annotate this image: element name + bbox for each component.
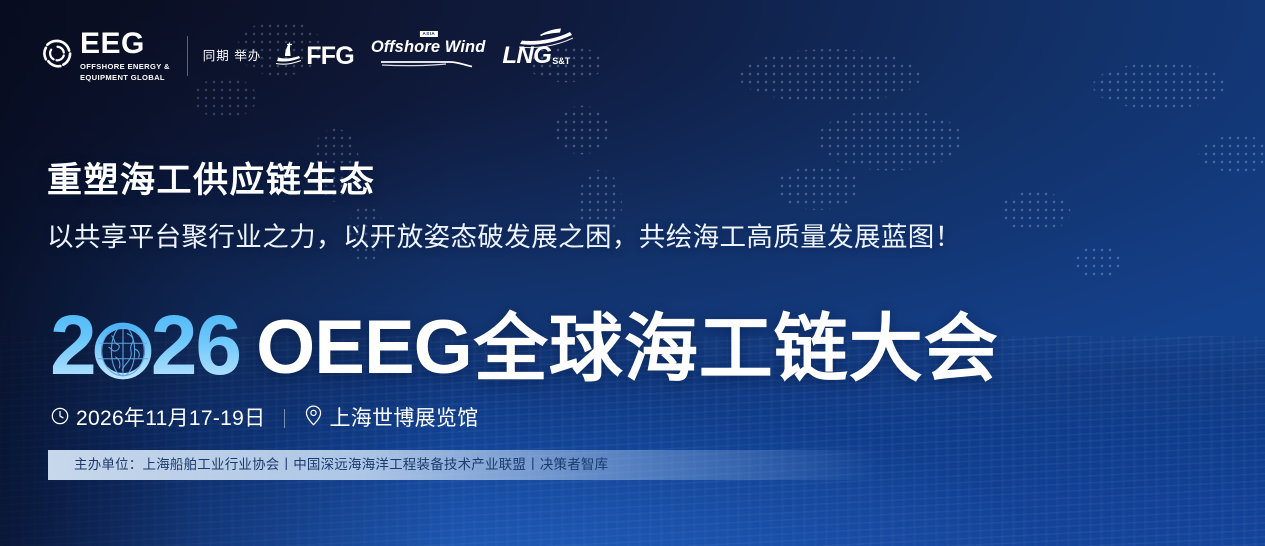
event-name-cn: 全球海工链大会 [474,312,999,386]
hero-subheadline: 以共享平台聚行业之力，以开放姿态破发展之困，共绘海工高质量发展蓝图！ [47,224,962,251]
logo-divider [187,36,188,76]
map-pin-icon [304,405,323,431]
event-year: 2 [50,306,240,386]
eeg-wordmark: EEG [80,29,170,59]
concurrent-label: 同期 举办 [203,49,261,64]
clock-icon [50,406,70,431]
event-title: 2 [50,296,999,386]
wave-underline-icon [380,55,476,73]
event-date-item: 2026年11月17-19日 [50,406,265,431]
lng-vessel-icon [518,28,574,55]
hero-headline: 重塑海工供应链生态 [47,163,376,198]
event-date: 2026年11月17-19日 [76,408,265,429]
partner-logo-ffg[interactable]: FFG [274,41,354,72]
partner-logo-lng[interactable]: LNG S&T [502,44,570,68]
ffg-wordmark: FFG [306,44,354,69]
eeg-logo[interactable]: EEG OFFSHORE ENERGY & EQUIPMENT GLOBAL [42,29,170,82]
aperture-swirl-icon [42,38,73,74]
year-digits-26: 26 [151,306,240,386]
lng-suffix: S&T [552,57,570,68]
organizer-bar: 主办单位：上海船舶工业行业协会丨中国深远海海洋工程装备技术产业联盟丨决策者智库 [48,450,878,480]
year-digit-2: 2 [50,306,95,386]
event-venue-item: 上海世博展览馆 [304,405,478,431]
event-banner: EEG OFFSHORE ENERGY & EQUIPMENT GLOBAL 同… [0,0,1265,546]
meta-divider [284,409,285,428]
event-venue: 上海世博展览馆 [329,408,478,429]
partner-logos: FFG ASIA Offshore Wind [274,39,570,74]
globe-icon [92,320,154,382]
partner-logo-offshore-wind[interactable]: ASIA Offshore Wind [371,39,486,74]
logo-bar: EEG OFFSHORE ENERGY & EQUIPMENT GLOBAL 同… [42,30,570,82]
organizer-text: 主办单位：上海船舶工业行业协会丨中国深远海海洋工程装备技术产业联盟丨决策者智库 [48,458,608,472]
asia-badge: ASIA [420,31,438,38]
event-meta: 2026年11月17-19日 上海世博展览馆 [50,404,479,432]
event-abbr: OEEG [256,310,472,386]
ship-bow-icon [274,41,304,72]
offshore-wind-wordmark: Offshore Wind [371,39,486,56]
eeg-tagline: OFFSHORE ENERGY & EQUIPMENT GLOBAL [80,62,170,82]
